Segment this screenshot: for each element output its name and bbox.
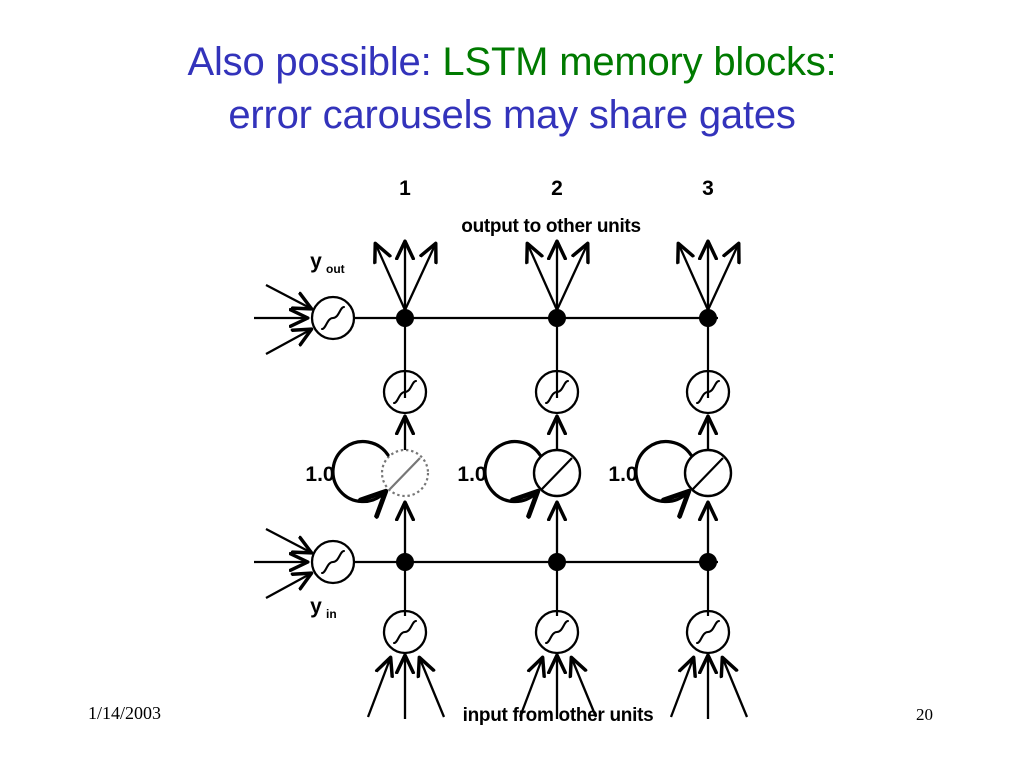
y-out-symbol: y bbox=[310, 250, 322, 273]
cell-1-input-arrows bbox=[368, 657, 444, 719]
y-in-symbol: y bbox=[310, 595, 322, 618]
cell-2-recurrent-loop bbox=[485, 442, 540, 502]
input-caption: input from other units bbox=[463, 705, 654, 726]
y-out-subscript: out bbox=[326, 262, 345, 276]
footer-page-number: 20 bbox=[916, 705, 933, 725]
input-gate-input-arrows bbox=[254, 529, 310, 598]
cell-3-input-arrows bbox=[671, 657, 747, 719]
cell-1-g-squash-unit bbox=[384, 611, 426, 653]
output-gate-unit bbox=[312, 297, 354, 339]
cell-3-cec-linear-slash bbox=[693, 458, 723, 489]
cell-1-cec-linear-slash bbox=[390, 458, 420, 489]
cell-3-output-arrows bbox=[679, 243, 738, 310]
title-segment-green: LSTM memory blocks: bbox=[442, 40, 836, 84]
y-in-subscript: in bbox=[326, 607, 337, 621]
cell-3-g-squash-unit bbox=[687, 611, 729, 653]
y-out-label: y out bbox=[310, 250, 345, 276]
cell-1-weight-label: 1.0 bbox=[305, 463, 334, 486]
output-gate-input-arrows bbox=[254, 285, 310, 354]
title-segment-blue: Also possible: bbox=[188, 40, 443, 84]
cell-2-output-arrows bbox=[528, 243, 587, 310]
cell-1-cec-unit bbox=[382, 450, 428, 496]
title-line-2: error carousels may share gates bbox=[0, 89, 1024, 142]
cell-3-output-junction-dot bbox=[699, 309, 717, 327]
column-label-3: 3 bbox=[702, 177, 714, 200]
lstm-memory-block-diagram: 1 2 3 output to other units y out bbox=[248, 168, 788, 733]
column-label-2: 2 bbox=[551, 177, 563, 200]
memory-cell-2: 1.0 bbox=[457, 243, 596, 719]
column-label-1: 1 bbox=[399, 177, 411, 200]
cell-3-recurrent-loop bbox=[636, 442, 691, 502]
cell-2-cec-unit bbox=[534, 450, 580, 496]
cell-2-cec-linear-slash bbox=[542, 458, 572, 489]
footer-date: 1/14/2003 bbox=[88, 703, 161, 724]
lstm-diagram-container: 1 2 3 output to other units y out bbox=[248, 168, 788, 733]
memory-cell-3: 1.0 bbox=[608, 243, 747, 719]
cell-3-weight-label: 1.0 bbox=[608, 463, 637, 486]
page-title: Also possible: LSTM memory blocks: error… bbox=[0, 36, 1024, 142]
cell-1-output-arrows bbox=[376, 243, 435, 310]
cell-2-g-squash-unit bbox=[536, 611, 578, 653]
memory-cell-1: 1.0 bbox=[305, 243, 444, 719]
cell-2-weight-label: 1.0 bbox=[457, 463, 486, 486]
y-in-label: y in bbox=[310, 595, 337, 621]
input-gate-unit bbox=[312, 541, 354, 583]
slide-page: { "slide": { "title_line1_part1": "Also … bbox=[0, 0, 1024, 768]
cell-1-output-junction-dot bbox=[396, 309, 414, 327]
cell-1-recurrent-loop bbox=[333, 442, 388, 502]
title-line-1: Also possible: LSTM memory blocks: bbox=[0, 36, 1024, 89]
cell-3-cec-unit bbox=[685, 450, 731, 496]
output-caption: output to other units bbox=[461, 216, 640, 237]
cell-2-output-junction-dot bbox=[548, 309, 566, 327]
